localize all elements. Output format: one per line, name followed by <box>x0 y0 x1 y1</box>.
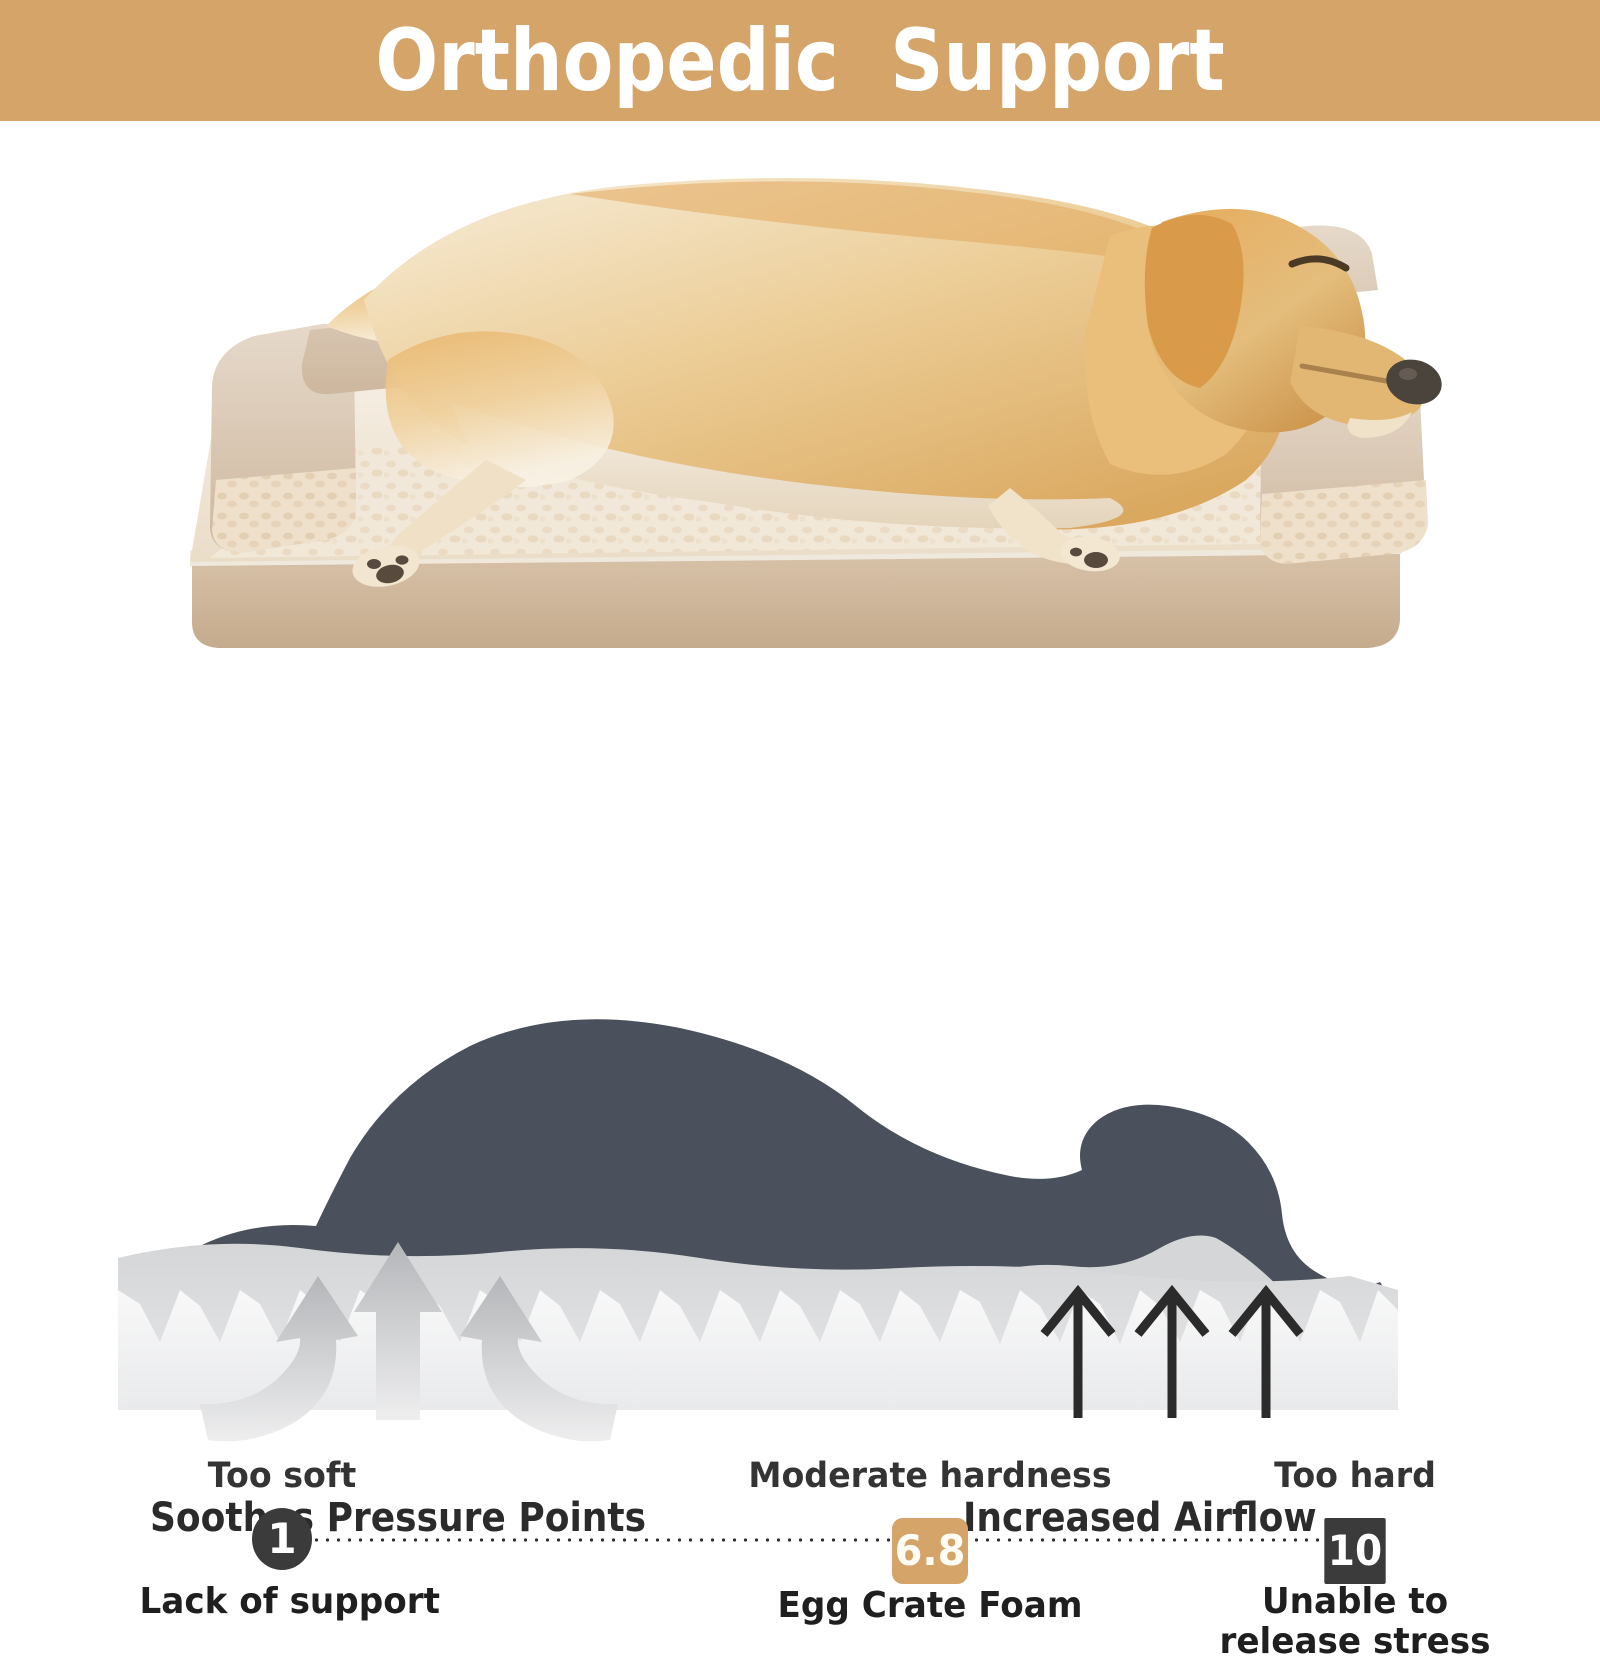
header-banner: Orthopedic Support <box>0 0 1600 121</box>
caption-increased-airflow: Increased Airflow <box>963 1495 1317 1541</box>
scale-left-top-label: Too soft <box>140 1456 425 1496</box>
infographic-canvas: Orthopedic Support <box>0 0 1600 1600</box>
scale-right-bottom-label-line2: release stress <box>1213 1622 1498 1662</box>
scale-badge-6-8: 6.8 <box>892 1518 968 1584</box>
airflow-arrows <box>1044 1292 1300 1418</box>
scale-left-bottom-label: Lack of support <box>140 1582 425 1622</box>
scale-right-bottom-label-line1: Unable to <box>1213 1582 1498 1622</box>
scale-badge-10: 10 <box>1324 1518 1385 1584</box>
page-title: Orthopedic Support <box>112 0 1488 121</box>
scale-middle-bottom-label: Egg Crate Foam <box>740 1586 1120 1626</box>
hardness-scale: Too soft 1 Lack of support Moderate hard… <box>0 720 1600 940</box>
foam-cross-section-diagram <box>0 990 1600 1460</box>
product-photo <box>150 150 1450 690</box>
scale-badge-1: 1 <box>252 1508 312 1570</box>
scale-middle-top-label: Moderate hardness <box>740 1456 1120 1496</box>
scale-right-top-label: Too hard <box>1213 1456 1498 1496</box>
caption-soothes-pressure-points: Soothes Pressure Points <box>150 1495 646 1541</box>
